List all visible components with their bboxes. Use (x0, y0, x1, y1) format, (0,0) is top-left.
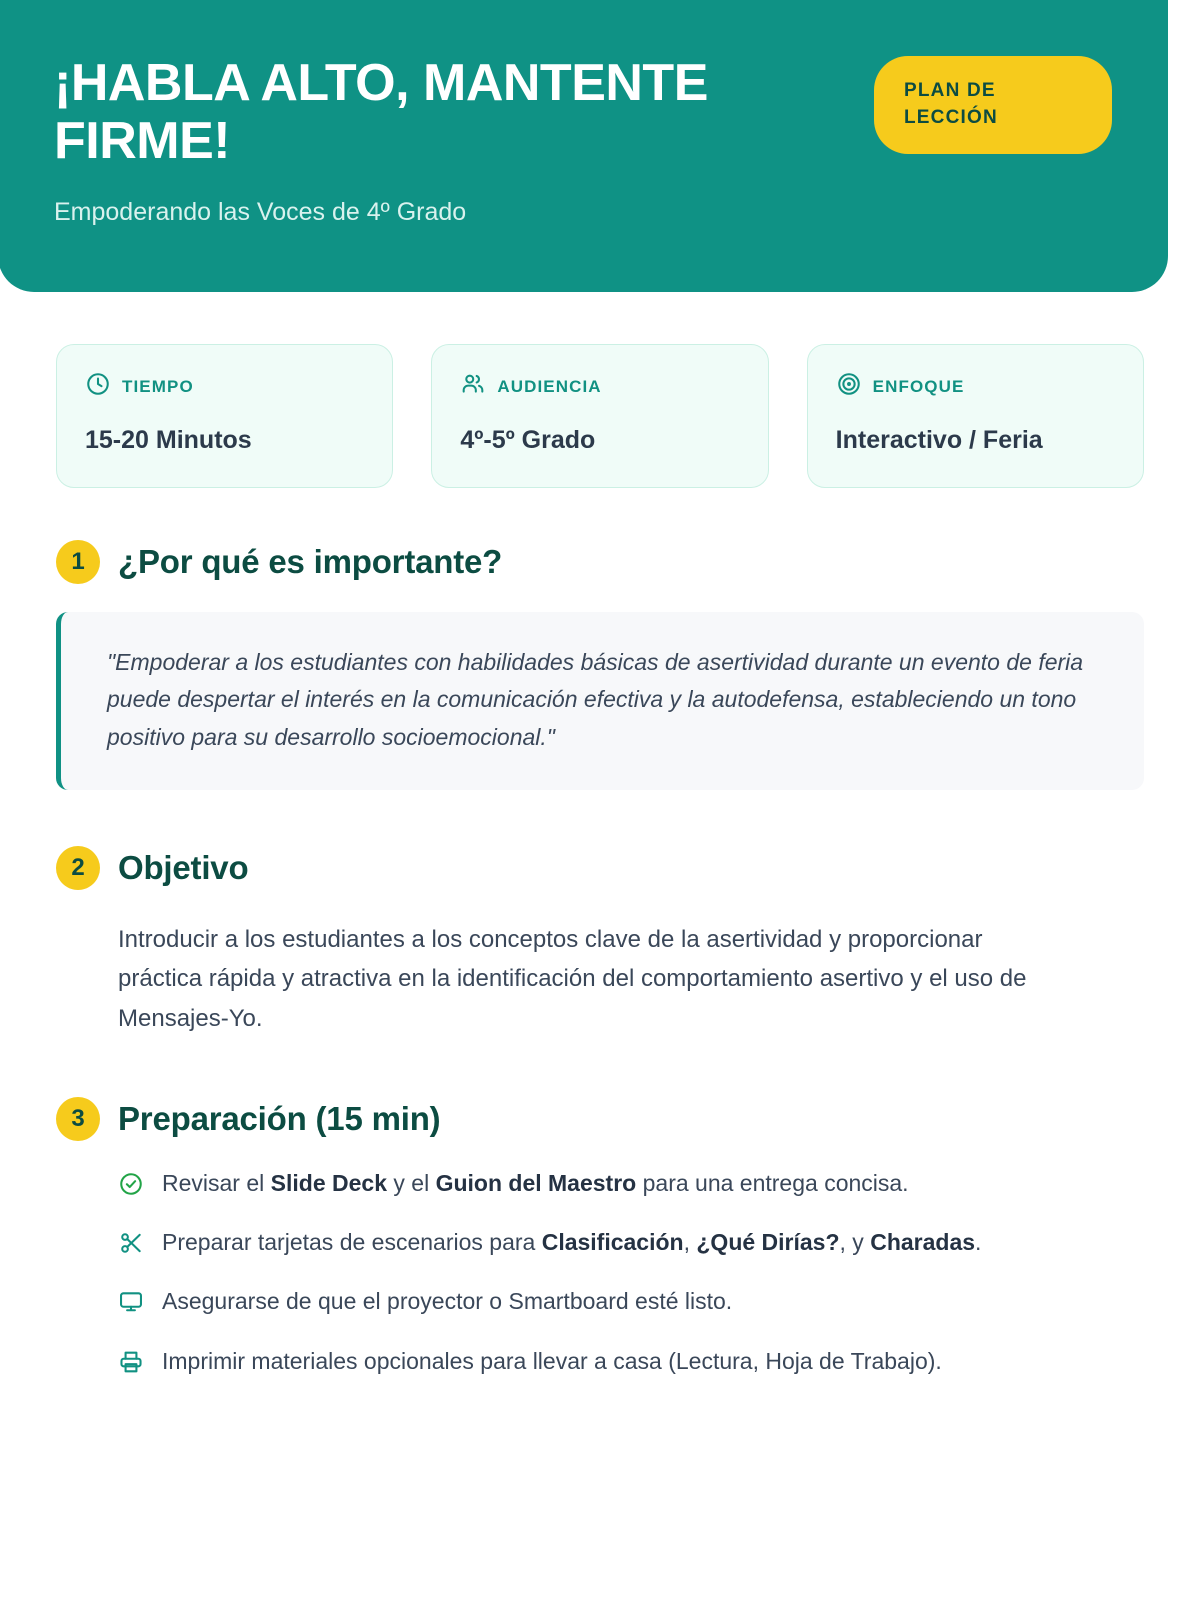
section-header: 3 Preparación (15 min) (56, 1097, 1144, 1141)
list-item-text: Asegurarse de que el proyector o Smartbo… (162, 1285, 732, 1318)
section-header: 2 Objetivo (56, 846, 1144, 890)
lesson-plan-badge[interactable]: PLAN DE LECCIÓN (874, 56, 1112, 154)
hero-text-block: ¡HABLA ALTO, MANTENTE FIRME! Empoderando… (54, 52, 850, 229)
list-item: Revisar el Slide Deck y el Guion del Mae… (118, 1167, 1144, 1200)
meta-card-label: ENFOQUE (873, 377, 965, 397)
printer-icon (118, 1349, 144, 1375)
section-header: 1 ¿Por qué es importante? (56, 540, 1144, 584)
target-icon (836, 371, 862, 402)
meta-card-tiempo: TIEMPO 15-20 Minutos (56, 344, 393, 488)
quote-block: "Empoderar a los estudiantes con habilid… (56, 612, 1144, 790)
hero-banner: ¡HABLA ALTO, MANTENTE FIRME! Empoderando… (0, 0, 1168, 292)
section-preparation: 3 Preparación (15 min) Revisar el Slide … (0, 1097, 1200, 1378)
page-subtitle: Empoderando las Voces de 4º Grado (54, 196, 850, 229)
list-item-text: Imprimir materiales opcionales para llev… (162, 1345, 942, 1378)
section-number-badge: 3 (56, 1097, 100, 1141)
scissors-icon (118, 1230, 144, 1256)
preparation-list: Revisar el Slide Deck y el Guion del Mae… (56, 1167, 1144, 1378)
lesson-plan-page: ¡HABLA ALTO, MANTENTE FIRME! Empoderando… (0, 0, 1200, 1600)
meta-card-value: Interactivo / Feria (836, 426, 1115, 455)
meta-card-label: AUDIENCIA (497, 377, 601, 397)
list-item: Asegurarse de que el proyector o Smartbo… (118, 1285, 1144, 1318)
meta-card-value: 4º-5º Grado (460, 426, 739, 455)
section-title: Objetivo (118, 849, 248, 887)
list-item-text: Revisar el Slide Deck y el Guion del Mae… (162, 1167, 909, 1200)
section-title: Preparación (15 min) (118, 1100, 440, 1138)
section-number-badge: 2 (56, 846, 100, 890)
list-item: Imprimir materiales opcionales para llev… (118, 1345, 1144, 1378)
quote-text: "Empoderar a los estudiantes con habilid… (107, 644, 1110, 756)
meta-card-enfoque: ENFOQUE Interactivo / Feria (807, 344, 1144, 488)
meta-card-header: TIEMPO (85, 371, 364, 402)
clock-icon (85, 371, 111, 402)
meta-card-row: TIEMPO 15-20 Minutos AUDIENCIA 4º-5º Gra… (0, 292, 1200, 488)
meta-card-header: ENFOQUE (836, 371, 1115, 402)
monitor-icon (118, 1289, 144, 1315)
list-item-text: Preparar tarjetas de escenarios para Cla… (162, 1226, 981, 1259)
section-number-badge: 1 (56, 540, 100, 584)
section-objective: 2 Objetivo Introducir a los estudiantes … (0, 846, 1200, 1039)
meta-card-label: TIEMPO (122, 377, 194, 397)
section-title: ¿Por qué es importante? (118, 543, 502, 581)
meta-card-audiencia: AUDIENCIA 4º-5º Grado (431, 344, 768, 488)
meta-card-header: AUDIENCIA (460, 371, 739, 402)
check-circle-icon (118, 1171, 144, 1197)
meta-card-value: 15-20 Minutos (85, 426, 364, 455)
section-why-it-matters: 1 ¿Por qué es importante? "Empoderar a l… (0, 540, 1200, 790)
list-item: Preparar tarjetas de escenarios para Cla… (118, 1226, 1144, 1259)
objective-text: Introducir a los estudiantes a los conce… (56, 920, 1056, 1039)
page-title: ¡HABLA ALTO, MANTENTE FIRME! (54, 54, 850, 170)
users-icon (460, 371, 486, 402)
